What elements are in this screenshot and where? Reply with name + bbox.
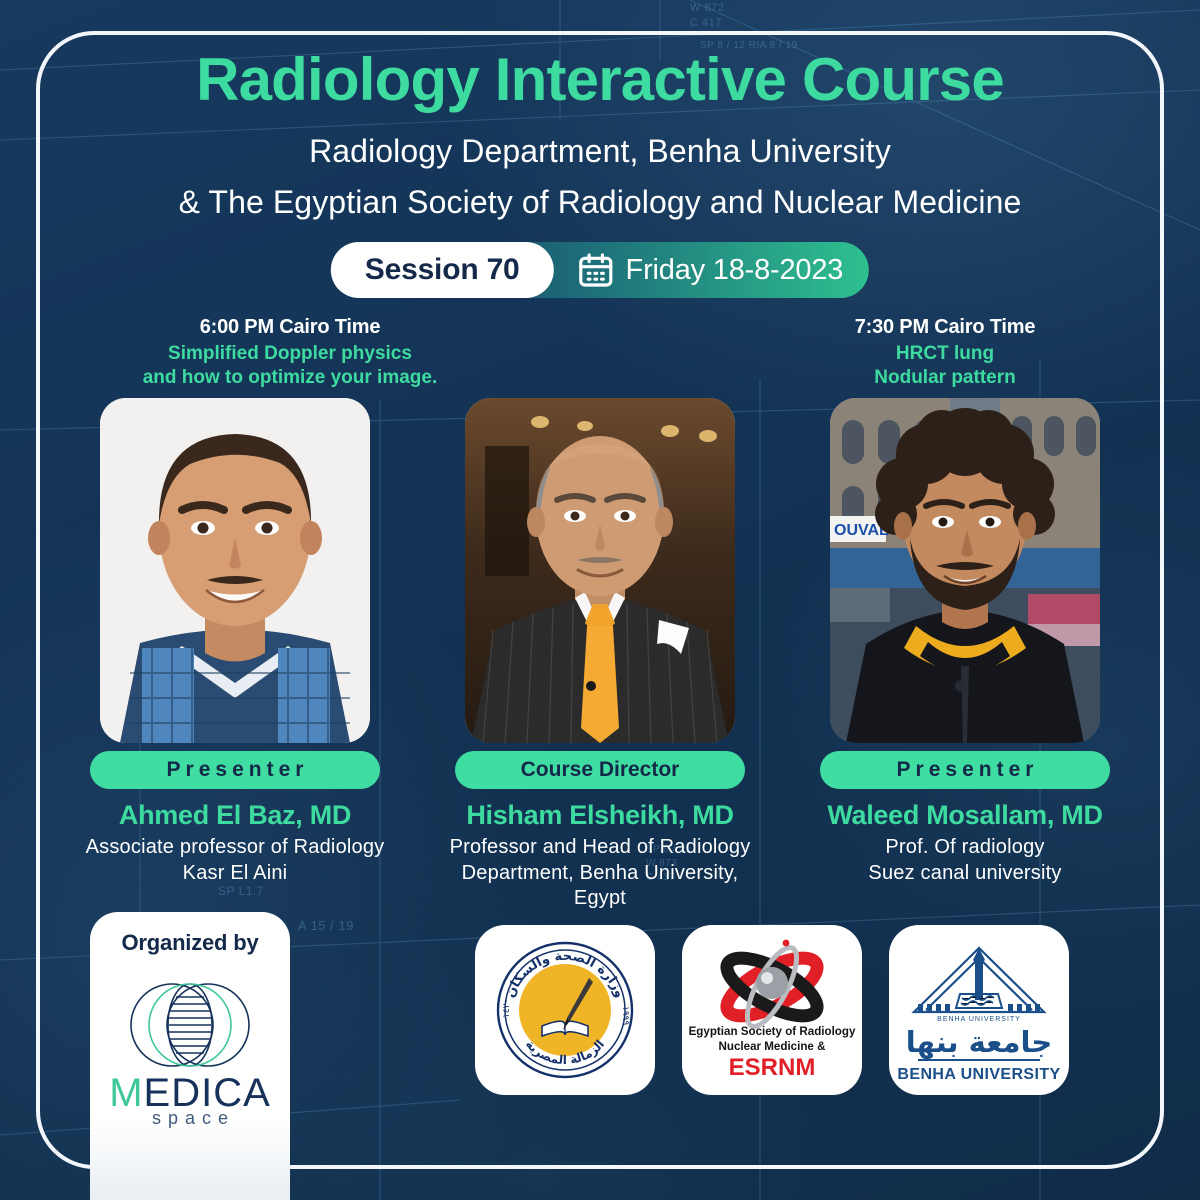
esrnm-logo: Egyptian Society of Radiology Nuclear Me… xyxy=(682,925,862,1095)
medica-tagline: space xyxy=(145,1108,235,1129)
speaker-card-1: Course Director Hisham Elsheikh, MD Prof… xyxy=(410,398,790,912)
medica-logo-mark xyxy=(128,970,252,1085)
session-number-badge: Session 70 xyxy=(331,242,554,298)
svg-text:ESRNM: ESRNM xyxy=(729,1054,816,1081)
topic-time: 6:00 PM Cairo Time xyxy=(60,316,520,339)
medica-initial: M xyxy=(109,1071,143,1115)
speaker-role-badge: Presenter xyxy=(90,751,380,789)
svg-text:١٤٢٠: ١٤٢٠ xyxy=(502,999,512,1018)
page-title: Radiology Interactive Course xyxy=(0,48,1200,111)
speaker-affiliation-line-1: Prof. Of radiology xyxy=(775,835,1155,861)
subtitle-line-2: & The Egyptian Society of Radiology and … xyxy=(0,184,1200,221)
benha-university-logo: BENHA UNIVERSITY جامعة بنها BENHA UNIVER… xyxy=(889,925,1069,1095)
speaker-role-badge: Presenter xyxy=(820,751,1110,789)
speaker-name: Waleed Mosallam, MD xyxy=(775,800,1155,831)
svg-text:BENHA UNIVERSITY: BENHA UNIVERSITY xyxy=(898,1066,1060,1083)
organizer-card: Organized by xyxy=(90,912,290,1200)
speaker-affiliation-line-2: Department, Benha University, xyxy=(410,861,790,887)
speaker-name: Ahmed El Baz, MD xyxy=(45,800,425,831)
svg-text:١٩٩٩: ١٩٩٩ xyxy=(620,1006,630,1026)
speaker-photo-hisham-elsheikh xyxy=(465,398,735,743)
speaker-photo-waleed-mosallam: OUVAL xyxy=(830,398,1100,743)
svg-text:جامعة بنها: جامعة بنها xyxy=(906,1025,1053,1059)
topic-block-right: 7:30 PM Cairo Time HRCT lung Nodular pat… xyxy=(745,316,1145,390)
speaker-role-badge: Course Director xyxy=(455,751,745,789)
topic-desc-line-1: HRCT lung xyxy=(745,342,1145,366)
subtitle-line-1: Radiology Department, Benha University xyxy=(0,133,1200,170)
speaker-affiliation-line-1: Associate professor of Radiology xyxy=(45,835,425,861)
speaker-name: Hisham Elsheikh, MD xyxy=(410,800,790,831)
calendar-icon xyxy=(576,250,616,290)
session-date-text: Friday 18-8-2023 xyxy=(626,254,844,287)
topic-desc-line-1: Simplified Doppler physics xyxy=(60,342,520,366)
medica-wordmark: MEDICA xyxy=(109,1093,271,1106)
topic-block-left: 6:00 PM Cairo Time Simplified Doppler ph… xyxy=(60,316,520,390)
speaker-card-0: Presenter Ahmed El Baz, MD Associate pro… xyxy=(45,398,425,886)
svg-text:BENHA UNIVERSITY: BENHA UNIVERSITY xyxy=(937,1016,1021,1023)
topic-time: 7:30 PM Cairo Time xyxy=(745,316,1145,339)
speaker-card-2: OUVAL xyxy=(775,398,1155,886)
speaker-affiliation-line-3: Egypt xyxy=(410,886,790,912)
speaker-photo-ahmed-el-baz xyxy=(100,398,370,743)
svg-text:Nuclear Medicine &: Nuclear Medicine & xyxy=(719,1040,827,1053)
organized-by-label: Organized by xyxy=(122,930,259,956)
topic-desc-line-2: and how to optimize your image. xyxy=(60,366,520,390)
session-date-bar: Session 70 Friday 18-8-2023 xyxy=(331,242,869,298)
poster-canvas: W 872 C 417 SP 8 / 12 RIA 8 / 19 A 15 / … xyxy=(0,0,1200,1200)
speaker-affiliation-line-2: Kasr El Aini xyxy=(45,861,425,887)
topic-desc-line-2: Nodular pattern xyxy=(745,366,1145,390)
speaker-affiliation-line-1: Professor and Head of Radiology xyxy=(410,835,790,861)
svg-text:Egyptian Society of Radiology: Egyptian Society of Radiology xyxy=(689,1025,856,1038)
speaker-affiliation-line-2: Suez canal university xyxy=(775,861,1155,887)
egyptian-fellowship-logo: وزارة الصحة والسكان الزمالة المصرية ١٤٢٠… xyxy=(475,925,655,1095)
